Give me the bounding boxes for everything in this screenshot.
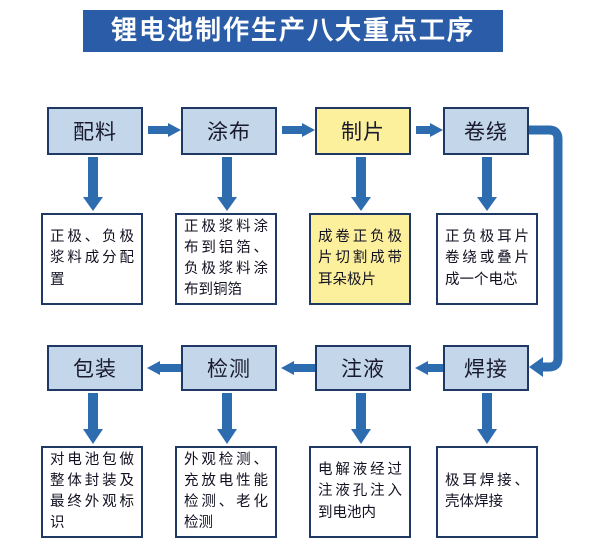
arrow-配料-to-涂布	[148, 123, 181, 137]
arrow-注液-to-检测	[281, 361, 315, 375]
flowchart-canvas: 锂电池制作生产八大重点工序 配料 涂布 制片 卷绕 正极、负极浆料成分配置 正极…	[0, 0, 600, 549]
arrow-涂布-to-制片	[282, 123, 315, 137]
arrow-down-焊接	[477, 393, 497, 444]
arrow-down-注液	[351, 393, 371, 444]
flow-arrows-layer	[0, 0, 600, 549]
arrow-制片-to-卷绕	[416, 123, 443, 137]
arrow-down-卷绕	[477, 157, 497, 211]
connector-卷绕-to-焊接	[529, 130, 558, 377]
arrow-down-配料	[83, 157, 103, 211]
arrow-down-涂布	[217, 157, 237, 211]
arrow-焊接-to-注液	[415, 361, 443, 375]
arrow-down-制片	[351, 157, 371, 211]
arrow-down-检测	[217, 393, 237, 444]
arrow-检测-to-包装	[147, 361, 181, 375]
arrow-down-包装	[83, 393, 103, 444]
